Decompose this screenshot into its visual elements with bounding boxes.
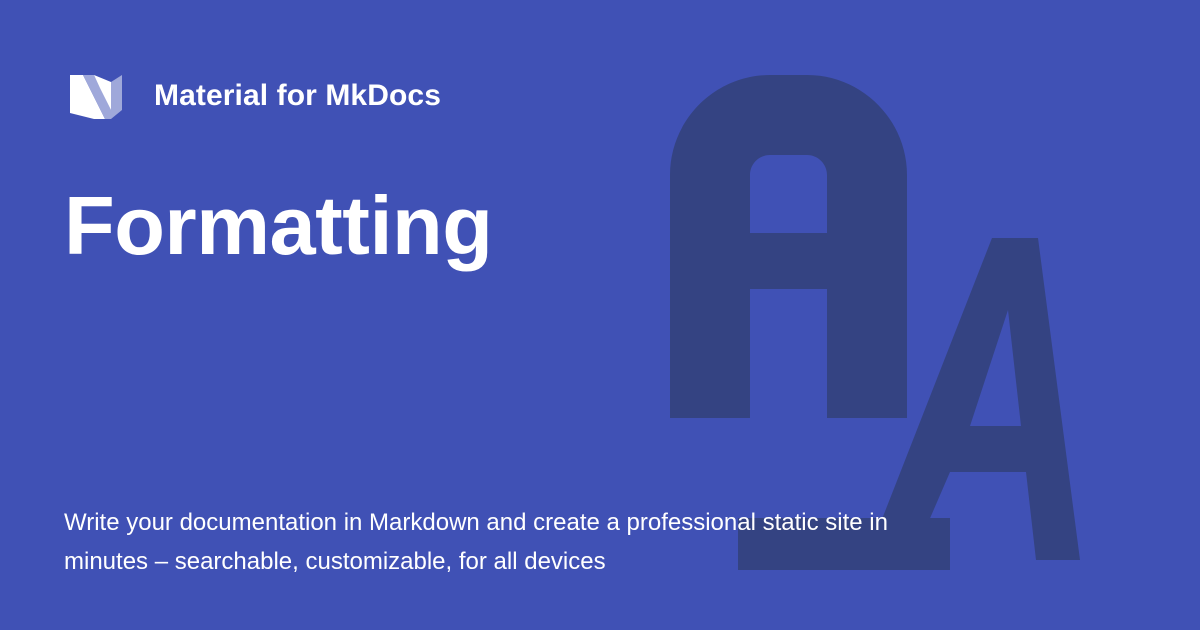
card-header: Material for MkDocs <box>64 64 441 128</box>
small-a-glyph <box>866 238 1080 560</box>
page-description: Write your documentation in Markdown and… <box>64 504 894 582</box>
site-name: Material for MkDocs <box>154 81 441 111</box>
material-for-mkdocs-logo-icon <box>64 64 128 128</box>
logo-right-facet <box>111 75 122 119</box>
social-card: Material for MkDocs Formatting Write you… <box>0 0 1200 630</box>
page-title: Formatting <box>64 182 864 269</box>
